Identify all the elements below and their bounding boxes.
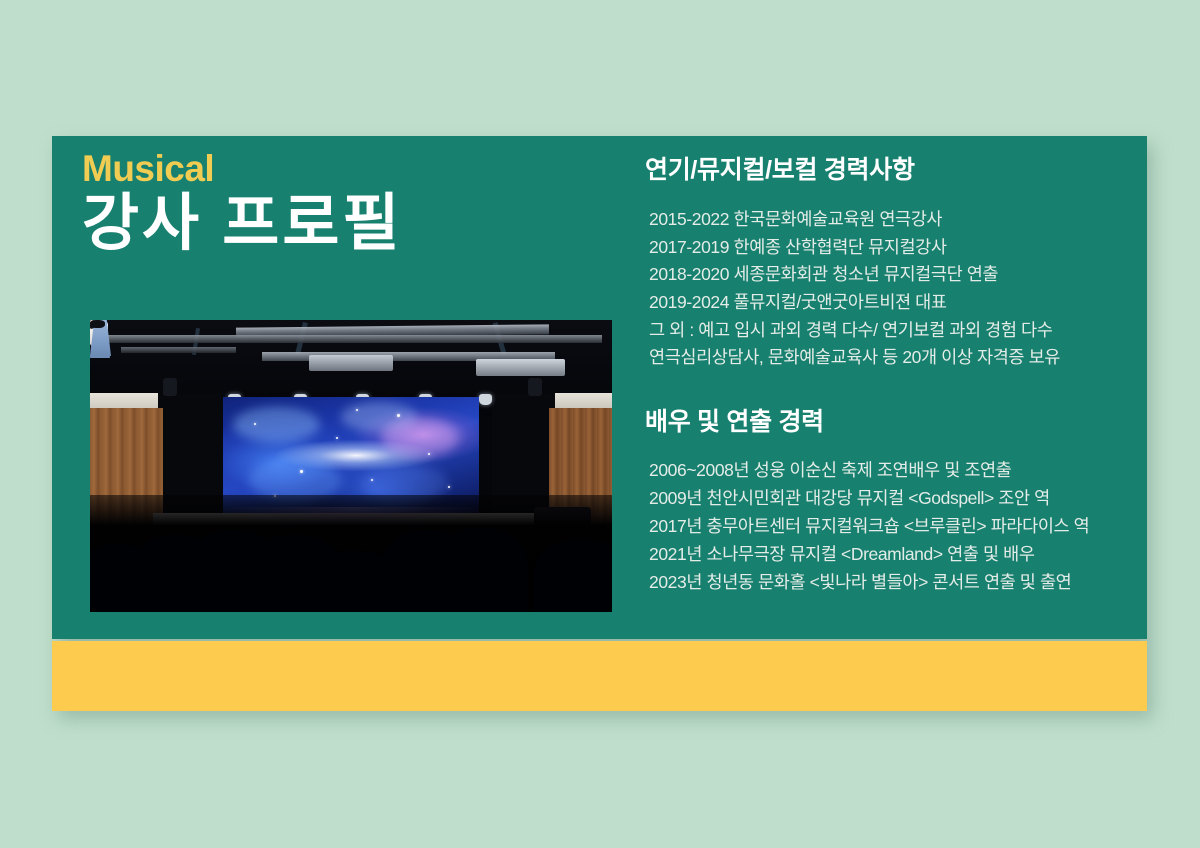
- bottom-accent-band: [52, 641, 1147, 711]
- list-item: 2019-2024 풀뮤지컬/굿앤굿아트비젼 대표: [649, 289, 1125, 317]
- eyebrow-text: Musical: [82, 150, 602, 189]
- rig-light-icon: [163, 378, 177, 396]
- slide-container: Musical 강사 프로필: [52, 136, 1147, 711]
- star-icon: [254, 423, 256, 425]
- page-title: 강사 프로필: [82, 191, 602, 258]
- list-item: 2017년 충무아트센터 뮤지컬워크숍 <브루클린> 파라다이스 역: [649, 512, 1125, 540]
- list-item: 2018-2020 세종문화회관 청소년 뮤지컬극단 연출: [649, 261, 1125, 289]
- ceiling-truss-icon: [121, 347, 236, 353]
- career-list: 2015-2022 한국문화예술교육원 연극강사 2017-2019 한예종 산…: [649, 206, 1125, 372]
- list-item: 2017-2019 한예종 산학협력단 뮤지컬강사: [649, 234, 1125, 262]
- section-performance-directing-career: 배우 및 연출 경력 2006~2008년 성웅 이순신 축제 조연배우 및 조…: [635, 402, 1125, 596]
- list-item: 2021년 소나무극장 뮤지컬 <Dreamland> 연출 및 배우: [649, 540, 1125, 568]
- star-icon: [300, 470, 303, 473]
- list-item: 2023년 청년동 문화홀 <빛나라 별들아> 콘서트 연출 및 출연: [649, 568, 1125, 596]
- section-acting-career: 연기/뮤지컬/보컬 경력사항 2015-2022 한국문화예술교육원 연극강사 …: [635, 150, 1125, 372]
- mic-windscreen-icon: [90, 320, 105, 328]
- star-icon: [397, 414, 400, 417]
- audience-silhouettes: [90, 495, 612, 612]
- ceiling-vent-icon: [476, 359, 565, 376]
- list-item: 연극심리상담사, 문화예술교육사 등 20개 이상 자격증 보유: [649, 344, 1125, 372]
- list-item: 2009년 천안시민회관 대강당 뮤지컬 <Godspell> 조안 역: [649, 484, 1125, 512]
- nebula-wisp: [382, 418, 459, 458]
- star-icon: [336, 437, 338, 439]
- list-item: 2015-2022 한국문화예술교육원 연극강사: [649, 206, 1125, 234]
- section-heading: 배우 및 연출 경력: [645, 402, 1125, 438]
- stage-photo: [90, 320, 612, 612]
- title-block: Musical 강사 프로필: [82, 150, 602, 258]
- list-item: 2006~2008년 성웅 이순신 축제 조연배우 및 조연출: [649, 456, 1125, 484]
- rig-light-icon: [528, 378, 542, 396]
- nebula-wisp: [233, 407, 320, 442]
- career-list: 2006~2008년 성웅 이순신 축제 조연배우 및 조연출 2009년 천안…: [649, 456, 1125, 596]
- section-heading: 연기/뮤지컬/보컬 경력사항: [645, 150, 1125, 186]
- ceiling-vent-icon: [309, 355, 393, 371]
- star-icon: [448, 486, 450, 488]
- stage-spotlight-icon: [479, 394, 492, 405]
- slide-teal-panel: Musical 강사 프로필: [52, 136, 1147, 639]
- list-item: 그 외 : 예고 입시 과외 경력 다수/ 연기보컬 과외 경험 다수: [649, 317, 1125, 345]
- ceiling-truss-icon: [100, 335, 601, 343]
- career-content: 연기/뮤지컬/보컬 경력사항 2015-2022 한국문화예술교육원 연극강사 …: [635, 150, 1125, 596]
